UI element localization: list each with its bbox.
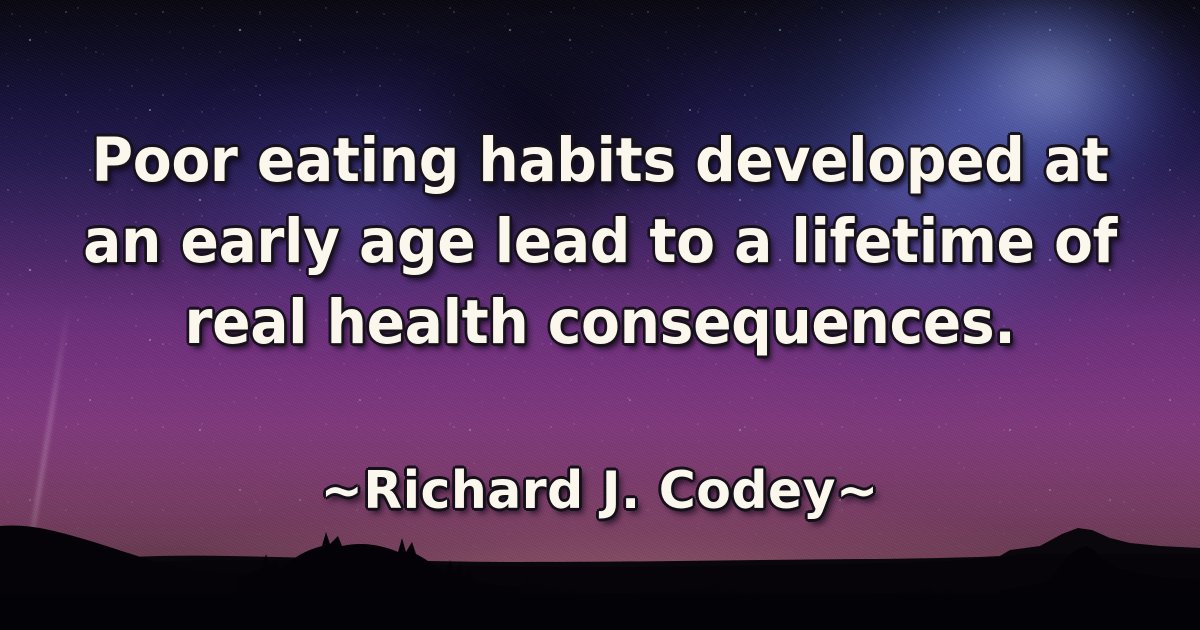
quote-card: Poor eating habits developed at an early… (0, 0, 1200, 630)
ground-base-shape (0, 594, 1200, 630)
quote-block: Poor eating habits developed at an early… (0, 120, 1200, 363)
hill-silhouette (0, 510, 1200, 630)
author-block: ~Richard J. Codey~ (0, 462, 1200, 520)
quote-line-3: real health consequences. (42, 282, 1158, 363)
quote-line-2: an early age lead to a lifetime of (42, 201, 1158, 282)
author-attribution: ~Richard J. Codey~ (321, 462, 879, 520)
quote-line-1: Poor eating habits developed at (42, 120, 1158, 201)
